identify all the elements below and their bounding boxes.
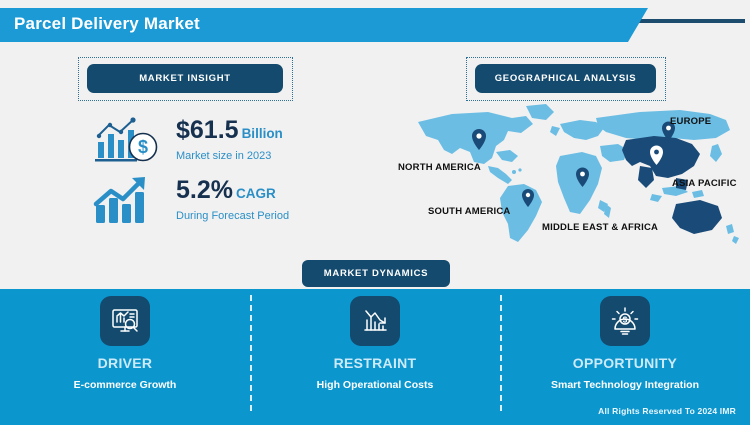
dynamics-column-driver: DRIVER E-commerce Growth (0, 296, 250, 391)
header: Parcel Delivery Market (0, 8, 750, 42)
infographic-root: Parcel Delivery Market MARKET INSIGHT GE… (0, 0, 750, 425)
bar-chart-dollar-icon: $ (92, 112, 166, 168)
dynamics-title-driver: DRIVER (0, 355, 250, 371)
market-dynamics-badge: MARKET DYNAMICS (302, 260, 450, 287)
stat-market-size-value: $61.5 (176, 116, 239, 144)
geographical-analysis-badge: GEOGRAPHICAL ANALYSIS (475, 64, 656, 93)
stat-market-size: $ $61.5Billion Market size in 2023 (92, 112, 283, 168)
map-label-asia-pacific: ASIA PACIFIC (672, 178, 737, 189)
footer-copyright: All Rights Reserved To 2024 IMR (598, 406, 736, 416)
dynamics-title-opportunity: OPPORTUNITY (500, 355, 750, 371)
map-label-north-america: NORTH AMERICA (398, 162, 481, 173)
dynamics-subtitle-opportunity: Smart Technology Integration (500, 379, 750, 391)
stat-cagr-value: 5.2% (176, 176, 233, 204)
stat-cagr-unit: CAGR (236, 186, 276, 201)
stat-market-size-text: $61.5Billion Market size in 2023 (176, 118, 283, 162)
stat-market-size-unit: Billion (242, 126, 283, 141)
dynamics-subtitle-restraint: High Operational Costs (250, 379, 500, 391)
growth-arrow-icon (92, 172, 166, 228)
market-insight-badge: MARKET INSIGHT (87, 64, 283, 93)
map-label-middle-east-africa: MIDDLE EAST & AFRICA (542, 222, 658, 233)
page-title: Parcel Delivery Market (14, 14, 200, 34)
dynamics-column-restraint: RESTRAINT High Operational Costs (250, 296, 500, 391)
stat-market-size-caption: Market size in 2023 (176, 150, 283, 162)
header-accent-line (630, 19, 745, 23)
svg-text:$: $ (138, 137, 148, 157)
stat-cagr-text: 5.2%CAGR During Forecast Period (176, 178, 289, 222)
stat-cagr-caption: During Forecast Period (176, 210, 289, 222)
svg-text:$: $ (623, 316, 628, 325)
dynamics-column-opportunity: $ OPPORTUNITY Smart Technology Integrati… (500, 296, 750, 391)
monitor-analytics-search-icon (100, 296, 150, 346)
stat-market-size-value-row: $61.5Billion (176, 118, 283, 143)
declining-chart-icon (350, 296, 400, 346)
dynamics-title-restraint: RESTRAINT (250, 355, 500, 371)
map-label-south-america: SOUTH AMERICA (428, 206, 510, 217)
world-map: NORTH AMERICA SOUTH AMERICA MIDDLE EAST … (400, 100, 745, 255)
stat-cagr-value-row: 5.2%CAGR (176, 178, 289, 203)
dynamics-subtitle-driver: E-commerce Growth (0, 379, 250, 391)
map-label-europe: EUROPE (670, 116, 711, 127)
lightbulb-dollar-icon: $ (600, 296, 650, 346)
stat-cagr: 5.2%CAGR During Forecast Period (92, 172, 289, 228)
